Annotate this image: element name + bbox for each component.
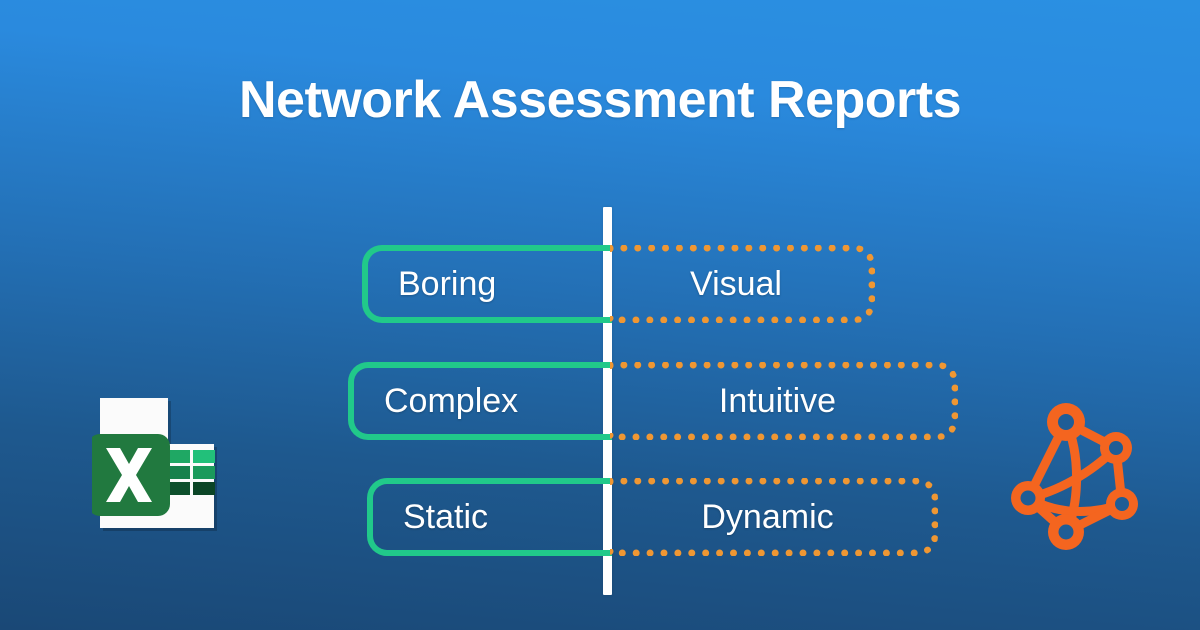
page-title: Network Assessment Reports — [0, 70, 1200, 130]
after-label: Visual — [690, 265, 782, 304]
before-pill-boring[interactable]: Boring — [362, 245, 612, 323]
before-pill-complex[interactable]: Complex — [348, 362, 612, 440]
before-label: Complex — [354, 382, 518, 421]
network-graph-icon — [1004, 400, 1144, 555]
after-pill-visual[interactable]: Visual — [610, 245, 875, 323]
before-label: Static — [373, 498, 488, 537]
after-label: Intuitive — [719, 382, 836, 421]
after-pill-dynamic[interactable]: Dynamic — [610, 478, 938, 556]
after-pill-intuitive[interactable]: Intuitive — [610, 362, 958, 440]
before-pill-static[interactable]: Static — [367, 478, 612, 556]
excel-spreadsheet-icon — [92, 392, 222, 532]
before-label: Boring — [368, 265, 496, 304]
after-label: Dynamic — [701, 498, 833, 537]
